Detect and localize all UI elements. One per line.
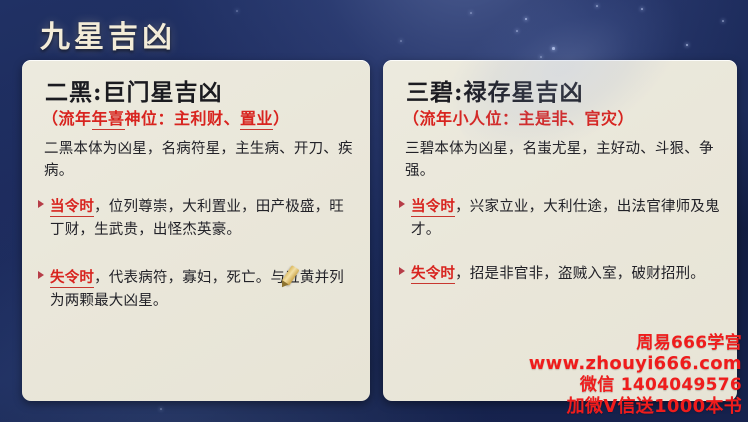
star-card-er-hei: 二黑:巨门星吉凶 （流年年喜神位：主利财、置业） 二黑本体为凶星，名病符星，主生… — [22, 60, 370, 401]
subtitle-underline-2: 置业 — [240, 109, 273, 130]
watermark-block: 周易666学宫 www.zhouyi666.com 微信 1404049576 … — [529, 333, 742, 418]
card-subtitle-san-bi: （流年小人位：主是非、官灾） — [403, 109, 723, 128]
watermark-brand: 周易666学宫 — [529, 333, 742, 354]
bullet-text: ，代表病符，寡妇，死亡。与五黄并列为两颗最大凶星。 — [50, 270, 344, 309]
subtitle-underline-1: 年喜 — [92, 109, 125, 130]
bullet-lead-label: 当令时 — [50, 199, 94, 217]
slide-canvas: 九星吉凶 二黑:巨门星吉凶 （流年年喜神位：主利财、置业） 二黑本体为凶星，名病… — [0, 0, 748, 422]
card-body-san-bi: 三碧本体为凶星，名蚩尤星，主好动、斗狠、争强。 — [405, 138, 723, 182]
bullet-lead-label: 当令时 — [411, 199, 455, 217]
bullet-dangling-shi-san-bi: 当令时，兴家立业，大利仕途，出法官律师及鬼才。 — [399, 196, 723, 241]
subtitle-middle: 神位：主利财、 — [125, 109, 241, 128]
bullet-text: ，位列尊崇，大利置业，田产极盛，旺丁财，生武贵，出怪杰英豪。 — [50, 199, 344, 238]
triangle-bullet-icon — [38, 200, 44, 208]
card-title-er-hei: 二黑:巨门星吉凶 — [45, 80, 356, 106]
watermark-promo: 加微V信送1000本书 — [529, 396, 742, 418]
bullet-text: ，招是非官非，盗贼入室，破财招刑。 — [455, 266, 705, 282]
bullet-shiling-shi-er-hei: 失令时，代表病符，寡妇，死亡。与五黄并列为两颗最大凶星。 — [38, 267, 356, 312]
page-title: 九星吉凶 — [40, 12, 176, 56]
bullet-lead-label: 失令时 — [411, 266, 455, 284]
bullet-lead-label: 失令时 — [50, 270, 94, 288]
card-title-san-bi: 三碧:禄存星吉凶 — [406, 80, 723, 106]
triangle-bullet-icon — [399, 200, 405, 208]
subtitle-open: （流年 — [42, 109, 92, 128]
triangle-bullet-icon — [399, 267, 405, 275]
bullet-shiling-shi-san-bi: 失令时，招是非官非，盗贼入室，破财招刑。 — [399, 263, 723, 286]
bullet-dangling-shi-er-hei: 当令时，位列尊崇，大利置业，田产极盛，旺丁财，生武贵，出怪杰英豪。 — [38, 196, 356, 241]
subtitle-close: ） — [273, 109, 290, 128]
watermark-website: www.zhouyi666.com — [529, 353, 742, 375]
card-body-er-hei: 二黑本体为凶星，名病符星，主生病、开刀、疾病。 — [44, 138, 356, 182]
triangle-bullet-icon — [38, 271, 44, 279]
card-subtitle-er-hei: （流年年喜神位：主利财、置业） — [42, 109, 356, 128]
bullet-text: ，兴家立业，大利仕途，出法官律师及鬼才。 — [411, 199, 720, 238]
watermark-wechat: 微信 1404049576 — [529, 375, 742, 396]
